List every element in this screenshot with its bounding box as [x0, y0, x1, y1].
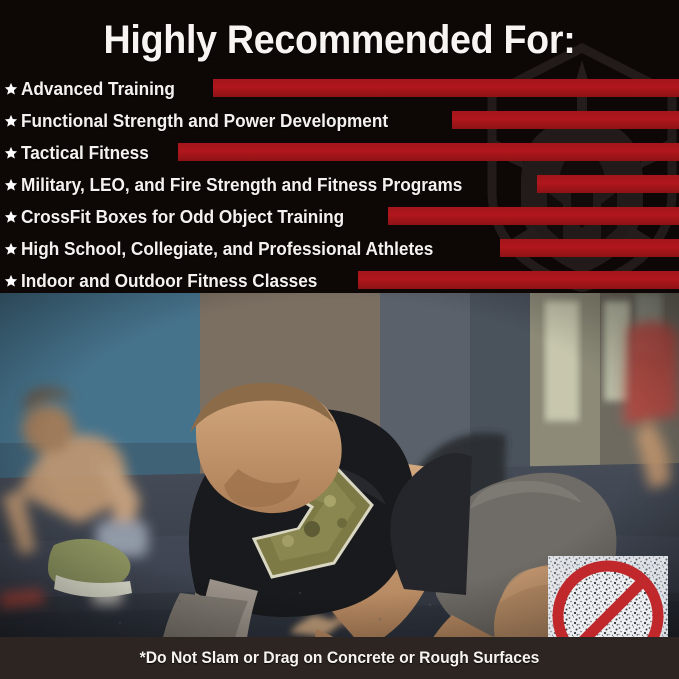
list-item: Functional Strength and Power Developmen…	[0, 105, 679, 137]
star-icon	[4, 178, 18, 192]
accent-bar	[500, 239, 679, 257]
star-icon	[4, 82, 18, 96]
star-icon	[4, 114, 18, 128]
list-item-label: Indoor and Outdoor Fitness Classes	[21, 272, 319, 291]
recommended-list: Advanced Training Functional Strength an…	[0, 73, 679, 293]
list-item: Tactical Fitness	[0, 137, 679, 169]
star-icon	[4, 274, 18, 288]
accent-bar	[388, 207, 679, 225]
list-item-label: Advanced Training	[21, 80, 177, 99]
accent-bar	[213, 79, 679, 97]
accent-bar	[452, 111, 679, 129]
list-item: Military, LEO, and Fire Strength and Fit…	[0, 169, 679, 201]
accent-bar	[178, 143, 679, 161]
recommended-for-panel: Highly Recommended For: Advanced Trainin…	[0, 0, 679, 293]
list-item: Indoor and Outdoor Fitness Classes	[0, 265, 679, 293]
list-item-label: Tactical Fitness	[21, 144, 151, 163]
warning-note: *Do Not Slam or Drag on Concrete or Roug…	[17, 637, 662, 679]
list-item-label: Functional Strength and Power Developmen…	[21, 112, 390, 131]
list-item: Advanced Training	[0, 73, 679, 105]
footer-bar: *Do Not Slam or Drag on Concrete or Roug…	[0, 637, 679, 679]
accent-bar	[537, 175, 679, 193]
product-feature-poster: Highly Recommended For: Advanced Trainin…	[0, 0, 679, 679]
star-icon	[4, 146, 18, 160]
list-item: High School, Collegiate, and Professiona…	[0, 233, 679, 265]
list-item-label: CrossFit Boxes for Odd Object Training	[21, 208, 346, 227]
star-icon	[4, 242, 18, 256]
accent-bar	[358, 271, 679, 289]
list-item-label: Military, LEO, and Fire Strength and Fit…	[21, 176, 464, 195]
star-icon	[4, 210, 18, 224]
list-item-label: High School, Collegiate, and Professiona…	[21, 240, 435, 259]
list-item: CrossFit Boxes for Odd Object Training	[0, 201, 679, 233]
page-title: Highly Recommended For:	[20, 18, 658, 63]
